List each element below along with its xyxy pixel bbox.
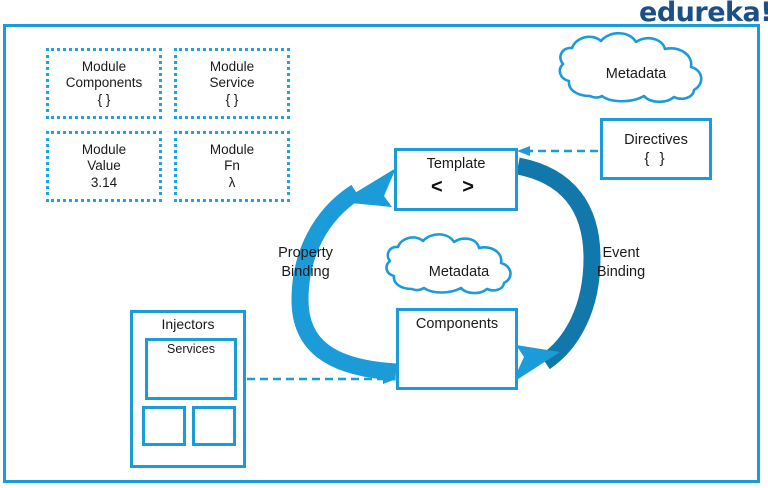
module-service-line1: Module bbox=[210, 59, 254, 76]
directives-box: Directives { } bbox=[600, 118, 712, 180]
property-binding-label: Property Binding bbox=[248, 244, 363, 282]
module-components-line2: Components bbox=[66, 75, 143, 92]
module-components-box: Module Components { } bbox=[46, 48, 162, 119]
module-fn-line2: Fn bbox=[224, 158, 240, 175]
module-fn-line1: Module bbox=[210, 142, 254, 159]
module-service-line3: { } bbox=[226, 92, 239, 109]
metadata-cloud-center-label-wrap: Metadata bbox=[390, 250, 528, 294]
services-box: Services bbox=[145, 338, 237, 400]
template-box: Template < > bbox=[394, 148, 518, 211]
template-box-title: Template bbox=[427, 156, 486, 172]
injectors-box: Injectors Services bbox=[130, 310, 246, 468]
injector-gear-box-right bbox=[192, 406, 236, 446]
module-value-box: Module Value 3.14 bbox=[46, 131, 162, 202]
property-binding-line1: Property bbox=[248, 244, 363, 263]
property-binding-line2: Binding bbox=[248, 263, 363, 282]
metadata-cloud-top-label-wrap: Metadata bbox=[566, 48, 706, 100]
module-value-line2: Value bbox=[87, 158, 121, 175]
components-box-title: Components bbox=[416, 316, 498, 332]
module-service-box: Module Service { } bbox=[174, 48, 290, 119]
directives-box-title: Directives bbox=[624, 132, 688, 148]
injectors-box-title: Injectors bbox=[162, 316, 215, 332]
module-service-line2: Service bbox=[209, 75, 254, 92]
module-fn-box: Module Fn λ bbox=[174, 131, 290, 202]
module-fn-line3: λ bbox=[229, 175, 236, 192]
module-value-line3: 3.14 bbox=[91, 175, 117, 192]
components-box: Components bbox=[396, 308, 518, 390]
event-binding-label: Event Binding bbox=[576, 244, 666, 282]
metadata-cloud-top-label: Metadata bbox=[606, 66, 666, 82]
injector-gear-box-left bbox=[142, 406, 186, 446]
module-grid: Module Components { } Module Service { }… bbox=[46, 48, 294, 202]
directives-box-code: { } bbox=[644, 150, 667, 167]
metadata-cloud-center-label: Metadata bbox=[429, 264, 489, 280]
template-box-code: < > bbox=[431, 176, 481, 199]
module-components-line3: { } bbox=[98, 92, 111, 109]
module-components-line1: Module bbox=[82, 59, 126, 76]
event-binding-line1: Event bbox=[576, 244, 666, 263]
module-value-line1: Module bbox=[82, 142, 126, 159]
services-box-title: Services bbox=[167, 342, 215, 356]
event-binding-line2: Binding bbox=[576, 263, 666, 282]
diagram-canvas: edureka! Module Components { } Module Se… bbox=[0, 0, 768, 488]
